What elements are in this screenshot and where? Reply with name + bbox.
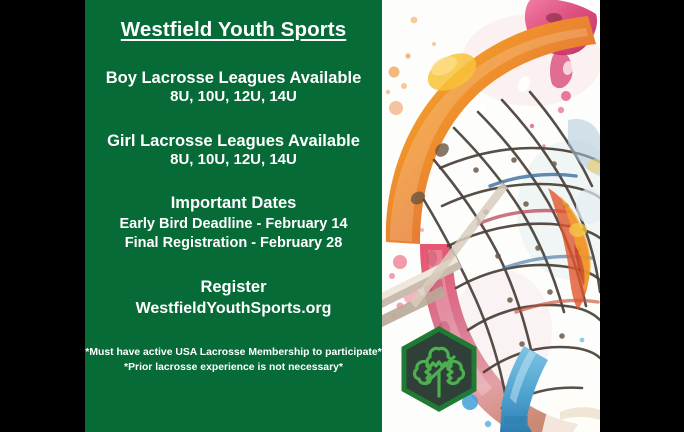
boys-divisions: 8U, 10U, 12U, 14U bbox=[106, 88, 362, 105]
boys-league-heading: Boy Lacrosse Leagues Available bbox=[106, 69, 362, 88]
girls-divisions: 8U, 10U, 12U, 14U bbox=[107, 151, 360, 168]
registration-block: Register WestfieldYouthSports.org bbox=[136, 278, 332, 318]
girls-league-heading: Girl Lacrosse Leagues Available bbox=[107, 132, 360, 151]
left-black-border bbox=[0, 0, 85, 432]
early-bird-deadline: Early Bird Deadline - February 14 bbox=[119, 216, 347, 232]
girls-league-block: Girl Lacrosse Leagues Available 8U, 10U,… bbox=[107, 132, 360, 168]
important-dates-heading: Important Dates bbox=[119, 194, 347, 213]
final-registration-date: Final Registration - February 28 bbox=[119, 235, 347, 251]
right-black-border bbox=[600, 0, 684, 432]
page-title: Westfield Youth Sports bbox=[121, 18, 346, 42]
poster-root: Westfield Youth Sports Boy Lacrosse Leag… bbox=[0, 0, 684, 432]
disclaimer-block: *Must have active USA Lacrosse Membershi… bbox=[85, 345, 381, 375]
boys-league-block: Boy Lacrosse Leagues Available 8U, 10U, … bbox=[106, 69, 362, 105]
registration-url[interactable]: WestfieldYouthSports.org bbox=[136, 300, 332, 318]
important-dates-block: Important Dates Early Bird Deadline - Fe… bbox=[119, 194, 347, 251]
disclaimer-membership: *Must have active USA Lacrosse Membershi… bbox=[85, 345, 381, 360]
info-panel: Westfield Youth Sports Boy Lacrosse Leag… bbox=[85, 0, 382, 432]
disclaimer-experience: *Prior lacrosse experience is not necess… bbox=[85, 360, 381, 375]
shamrock-hexagon-logo bbox=[396, 326, 482, 412]
register-heading: Register bbox=[136, 278, 332, 297]
